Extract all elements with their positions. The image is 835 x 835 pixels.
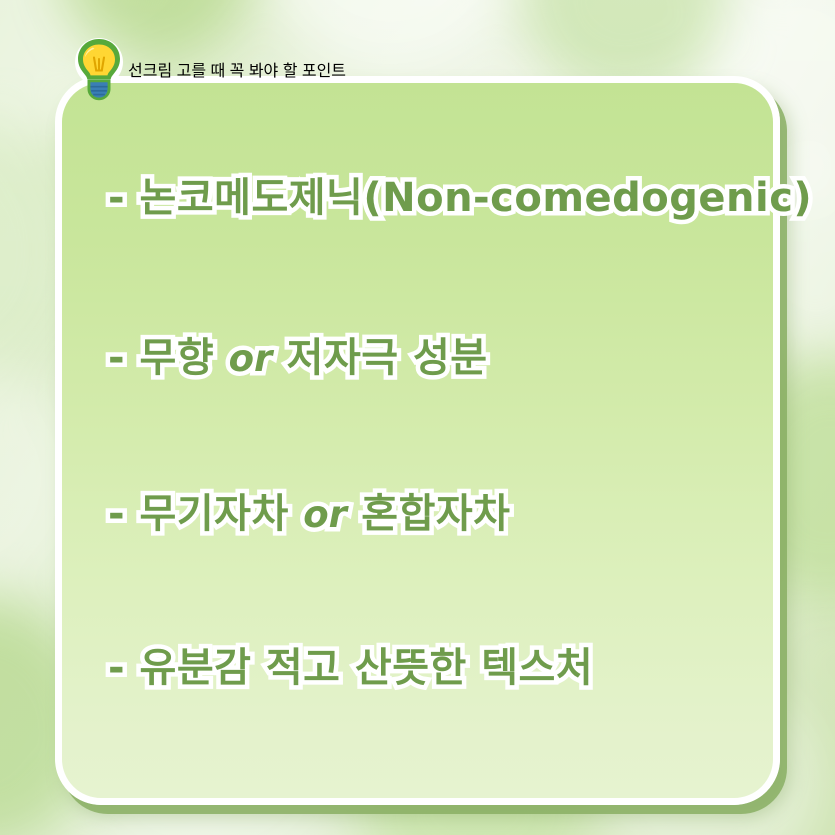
bullet-item-1: - 논코메도제닉(Non-comedogenic) [108, 178, 812, 218]
card-title: 선크림 고를 때 꼭 봐야 할 포인트 [72, 28, 792, 110]
bullet-item-4: - 유분감 적고 산뜻한 텍스처 [108, 648, 593, 688]
bullet-text: 논코메도제닉(Non-comedogenic) [140, 175, 813, 221]
bullet-text: 무기자차 or 혼합자차 [140, 491, 511, 537]
bullet-marker: - [108, 335, 125, 381]
bullet-text: 무향 or 저자극 성분 [140, 335, 488, 381]
bullet-item-3: - 무기자차 or 혼합자차 [108, 494, 511, 534]
bullet-marker: - [108, 645, 125, 691]
card-title-text: 선크림 고를 때 꼭 봐야 할 포인트 [128, 57, 346, 81]
bullet-marker: - [108, 491, 125, 537]
slide-canvas: 선크림 고를 때 꼭 봐야 할 포인트 - 논코메도제닉(Non-comedog… [0, 0, 835, 835]
bullet-text: 유분감 적고 산뜻한 텍스처 [140, 645, 594, 691]
bullet-item-2: - 무향 or 저자극 성분 [108, 338, 488, 378]
bullet-marker: - [108, 175, 125, 221]
lightbulb-icon [72, 37, 126, 103]
